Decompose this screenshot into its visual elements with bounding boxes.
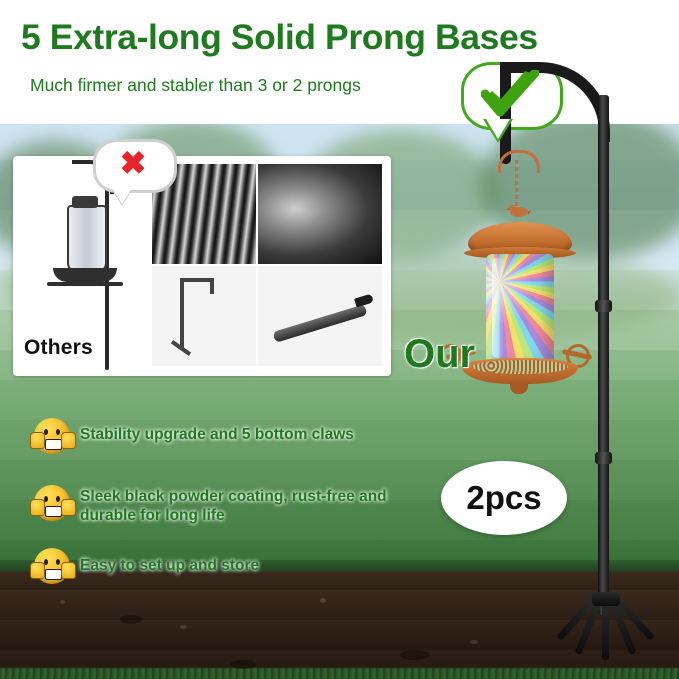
stake-shaft [180,278,184,348]
thumb-up-right [61,499,76,516]
soil-clod [230,660,256,669]
soil-clod [400,650,430,660]
soil-fleck [320,598,326,603]
quantity-badge-label: 2pcs [441,479,567,517]
soil-clod [120,615,142,624]
others-feeder-body [67,205,107,273]
others-feeder-cap [72,196,98,208]
red-x-icon: ✖ [117,148,149,178]
claw-hub [592,592,620,606]
feeder-seed [472,360,568,374]
shepherd-hook-pole [598,95,609,615]
smiley-eye [56,559,60,565]
page-title: 5 Extra-long Solid Prong Bases [21,17,661,58]
soil-fleck [470,640,478,644]
thumb-up-right [61,562,76,579]
smiley-thumbs-up-icon [34,418,70,454]
feature-text-1: Stability upgrade and 5 bottom claws [80,425,480,444]
bird-finial-icon [506,203,532,219]
smiley-eye [56,496,60,502]
blunt-rod-tip-photo [257,265,383,367]
check-bubble-tail [486,119,510,139]
pole-joint [595,452,612,464]
others-label: Others [24,336,93,360]
others-feeder-perch [47,282,123,286]
soil-fleck [60,600,65,604]
frayed-brush-photo [257,163,383,265]
smiley-eye [56,429,60,435]
product-infographic: 5 Extra-long Solid Prong Bases Much firm… [0,0,679,679]
ours-label: Our [404,332,475,377]
green-check-icon [481,70,539,120]
smiley-thumbs-up-icon [34,548,70,584]
stake-arm [180,278,214,282]
smiley-mouth [45,439,62,450]
soil-fleck [180,625,187,629]
thumb-up-left [30,562,45,579]
feature-text-2: Sleek black powder coating, rust-free an… [80,487,416,525]
others-feeder-tray [53,268,117,282]
smiley-thumbs-up-icon [34,485,70,521]
page-subtitle: Much firmer and stabler than 3 or 2 pron… [30,75,361,96]
feature-text-3: Easy to set up and store [80,556,480,575]
bottom-claw [602,600,609,660]
grass-edge [0,668,679,679]
feeder-hanger-loop [498,150,540,173]
thumb-up-left [30,432,45,449]
stake-hook [210,278,214,294]
thumb-up-left [30,499,45,516]
smiley-mouth [45,506,62,517]
pole-joint [595,300,612,312]
tube-highlight [492,258,504,358]
thumb-up-right [61,432,76,449]
thin-hook-stake-photo [151,265,257,367]
smiley-mouth [45,569,62,580]
